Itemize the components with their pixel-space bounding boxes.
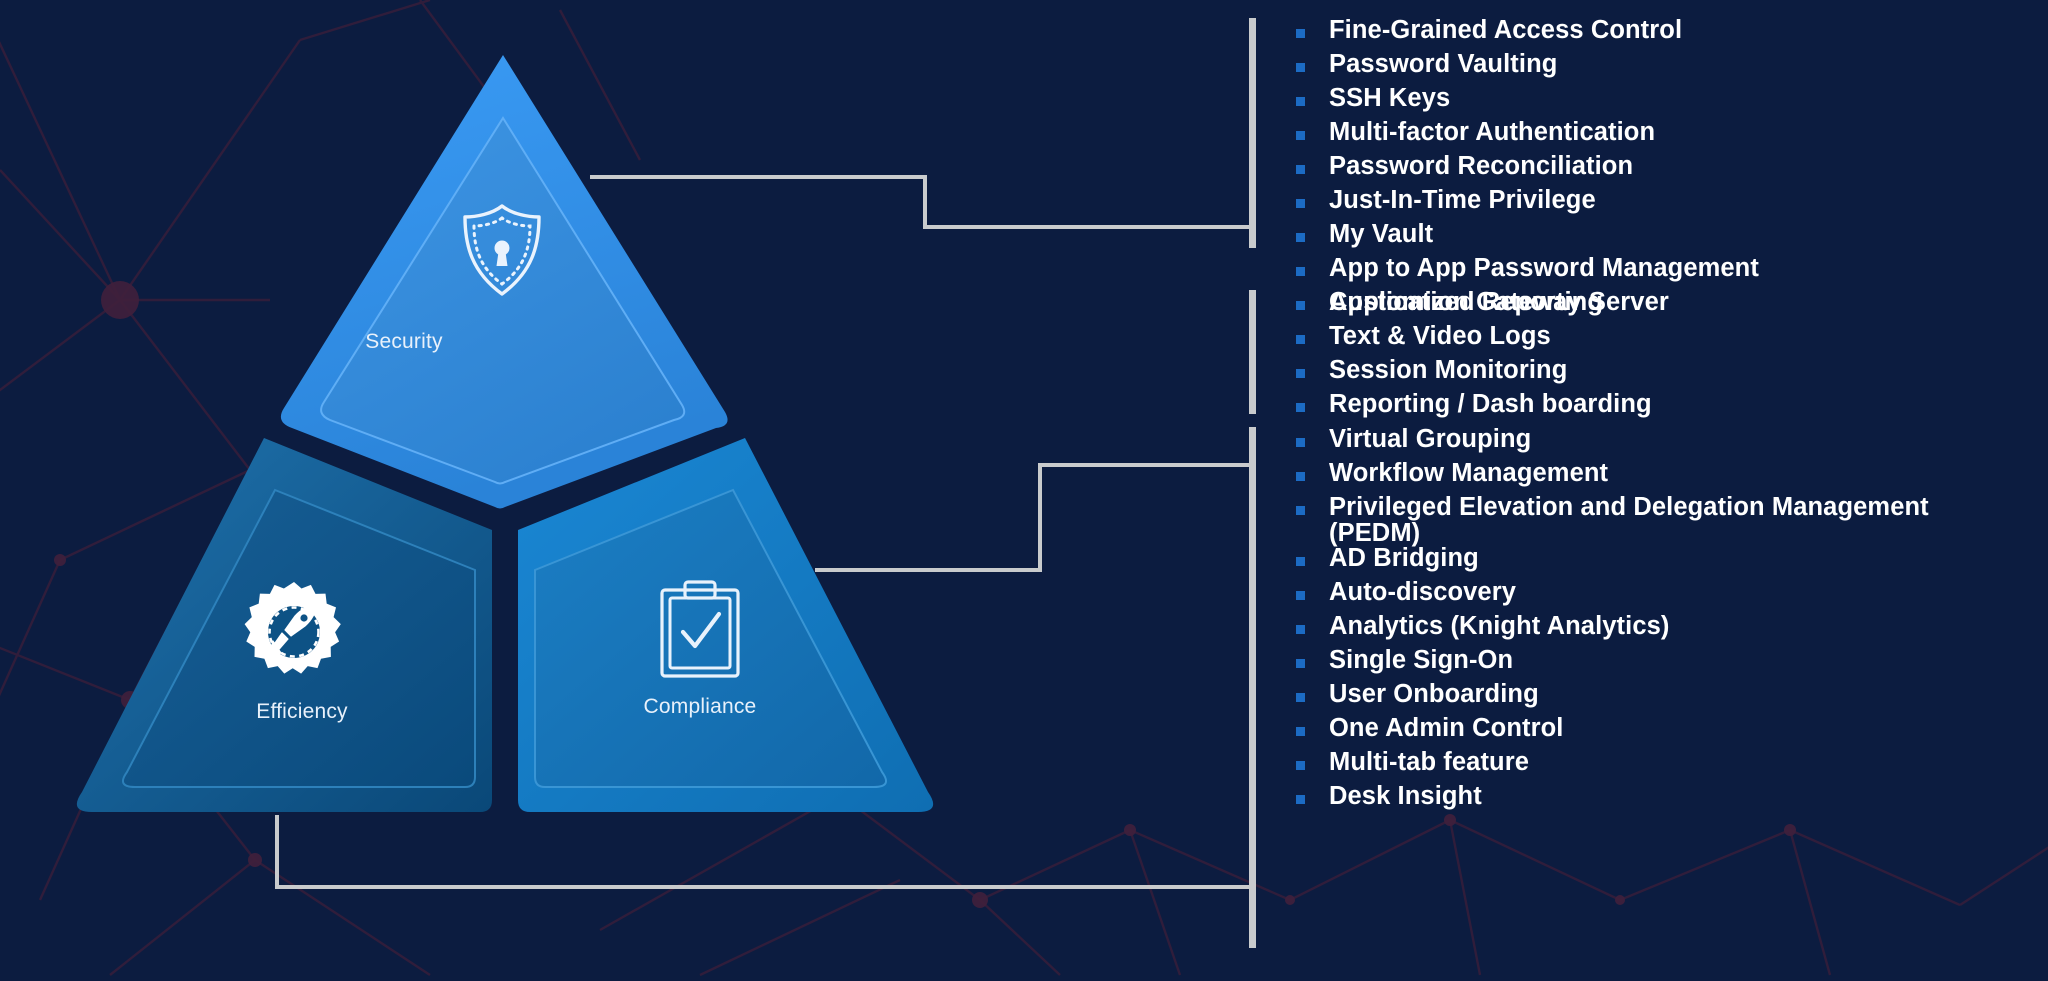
security-feature-label: Just-In-Time Privilege — [1329, 188, 1596, 214]
bullet-square-icon — [1296, 29, 1305, 38]
pyramid-label-compliance: Compliance — [644, 695, 757, 719]
security-feature-item: My Vault — [1296, 222, 1759, 256]
security-feature-label: SSH Keys — [1329, 86, 1450, 112]
bullet-square-icon — [1296, 761, 1305, 770]
security-feature-item: Fine-Grained Access Control — [1296, 18, 1759, 52]
security-feature-label: Multi-factor Authentication — [1329, 120, 1655, 146]
bullet-square-icon — [1296, 795, 1305, 804]
efficiency-feature-label: Virtual Grouping — [1329, 427, 1531, 453]
efficiency-feature-item: Privileged Elevation and Delegation Mana… — [1296, 495, 1929, 546]
bullet-square-icon — [1296, 199, 1305, 208]
security-feature-label: Fine-Grained Access Control — [1329, 18, 1682, 44]
efficiency-feature-item: Virtual Grouping — [1296, 427, 1929, 461]
bullet-square-icon — [1296, 267, 1305, 276]
efficiency-feature-label: Desk Insight — [1329, 784, 1482, 810]
bullet-square-icon — [1296, 97, 1305, 106]
efficiency-feature-item: One Admin Control — [1296, 716, 1929, 750]
diagram-canvas: Security Efficiency Compliance Fine-Grai… — [0, 0, 2048, 981]
compliance-feature-label: Text & Video Logs — [1329, 324, 1551, 350]
bullet-square-icon — [1296, 301, 1305, 310]
compliance-feature-item: Reporting / Dash boarding — [1296, 392, 1652, 426]
efficiency-feature-item: Workflow Management — [1296, 461, 1929, 495]
bullet-square-icon — [1296, 625, 1305, 634]
bullet-square-icon — [1296, 591, 1305, 600]
efficiency-feature-item: Desk Insight — [1296, 784, 1929, 818]
list-accent-bar-compliance — [1249, 290, 1256, 414]
feature-list-security: Fine-Grained Access ControlPassword Vaul… — [1296, 18, 1759, 324]
feature-list-efficiency: Virtual GroupingWorkflow ManagementPrivi… — [1296, 427, 1929, 818]
bullet-square-icon — [1296, 369, 1305, 378]
security-feature-item: Password Reconciliation — [1296, 154, 1759, 188]
efficiency-feature-item: Single Sign-On — [1296, 648, 1929, 682]
bullet-square-icon — [1296, 131, 1305, 140]
efficiency-feature-label: Privileged Elevation and Delegation Mana… — [1329, 495, 1929, 546]
bullet-square-icon — [1296, 438, 1305, 447]
shield-lock-icon — [452, 200, 552, 305]
efficiency-feature-label: Analytics (Knight Analytics) — [1329, 614, 1670, 640]
pyramid-label-security: Security — [365, 330, 442, 354]
compliance-feature-label: Reporting / Dash boarding — [1329, 392, 1652, 418]
clipboard-check-icon — [653, 578, 747, 687]
bullet-square-icon — [1296, 472, 1305, 481]
efficiency-feature-label: User Onboarding — [1329, 682, 1539, 708]
bullet-square-icon — [1296, 557, 1305, 566]
pyramid-diagram: Security Efficiency Compliance — [0, 0, 1000, 981]
efficiency-feature-label: Workflow Management — [1329, 461, 1608, 487]
efficiency-feature-item: AD Bridging — [1296, 546, 1929, 580]
security-feature-label: My Vault — [1329, 222, 1433, 248]
security-feature-label: App to App Password Management — [1329, 256, 1759, 282]
bullet-square-icon — [1296, 233, 1305, 242]
compliance-feature-label: Session Monitoring — [1329, 358, 1567, 384]
pyramid-label-efficiency: Efficiency — [256, 700, 348, 724]
list-accent-bar-efficiency — [1249, 427, 1256, 948]
bullet-square-icon — [1296, 63, 1305, 72]
efficiency-feature-label: One Admin Control — [1329, 716, 1564, 742]
efficiency-feature-item: Multi-tab feature — [1296, 750, 1929, 784]
efficiency-feature-label: Single Sign-On — [1329, 648, 1513, 674]
efficiency-feature-label: Multi-tab feature — [1329, 750, 1529, 776]
bullet-square-icon — [1296, 335, 1305, 344]
compliance-feature-item: Text & Video Logs — [1296, 324, 1652, 358]
list-accent-bar-security — [1249, 18, 1256, 248]
efficiency-feature-item: User Onboarding — [1296, 682, 1929, 716]
efficiency-feature-label: AD Bridging — [1329, 546, 1479, 572]
bullet-square-icon — [1296, 403, 1305, 412]
security-feature-item: Multi-factor Authentication — [1296, 120, 1759, 154]
compliance-feature-label: Customized Reporting — [1329, 290, 1603, 316]
compliance-feature-item: Customized Reporting — [1296, 290, 1652, 324]
feature-list-compliance: Customized ReportingText & Video LogsSes… — [1296, 290, 1652, 426]
efficiency-feature-label: Auto-discovery — [1329, 580, 1516, 606]
compliance-feature-item: Session Monitoring — [1296, 358, 1652, 392]
security-feature-item: SSH Keys — [1296, 86, 1759, 120]
gear-rocket-icon — [242, 580, 346, 689]
security-feature-label: Password Vaulting — [1329, 52, 1557, 78]
security-feature-item: App to App Password Management — [1296, 256, 1759, 290]
bullet-square-icon — [1296, 165, 1305, 174]
bullet-square-icon — [1296, 693, 1305, 702]
security-feature-label: Password Reconciliation — [1329, 154, 1633, 180]
bullet-square-icon — [1296, 659, 1305, 668]
bullet-square-icon — [1296, 727, 1305, 736]
efficiency-feature-item: Auto-discovery — [1296, 580, 1929, 614]
efficiency-feature-item: Analytics (Knight Analytics) — [1296, 614, 1929, 648]
bullet-square-icon — [1296, 506, 1305, 515]
security-feature-item: Password Vaulting — [1296, 52, 1759, 86]
security-feature-item: Just-In-Time Privilege — [1296, 188, 1759, 222]
